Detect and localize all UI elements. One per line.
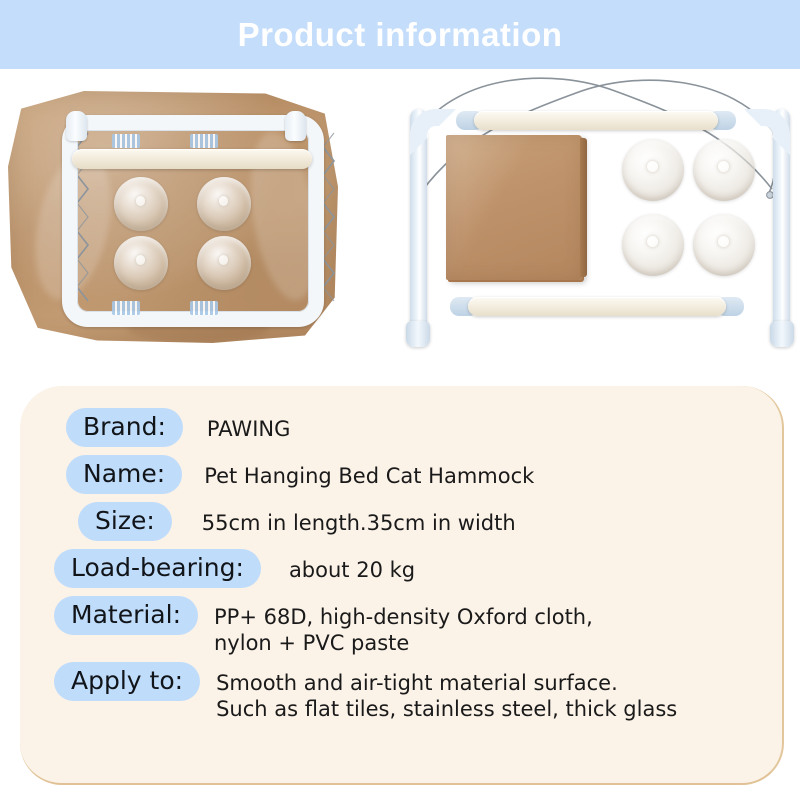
spec-value-size: 55cm in length.35cm in width	[202, 502, 516, 536]
product-info-card: Brand: PAWING Name: Pet Hanging Bed Cat …	[20, 386, 784, 785]
suction-cup	[197, 236, 251, 290]
spec-label-col: Material:	[46, 596, 198, 635]
product-photo-flat-packed	[0, 69, 400, 369]
grid-bracket	[190, 301, 218, 315]
suction-cup	[693, 214, 755, 276]
spec-list: Brand: PAWING Name: Pet Hanging Bed Cat …	[46, 408, 756, 727]
fabric-folded-edge	[580, 138, 587, 277]
suction-cup	[114, 236, 168, 290]
page-header-banner: Product information	[0, 0, 800, 69]
spec-label-col: Size:	[46, 502, 172, 541]
grid-bracket	[112, 134, 140, 148]
frame-leg-cap	[66, 111, 87, 141]
suction-cup	[197, 177, 251, 231]
product-photo-strip	[0, 69, 800, 369]
spec-row-size: Size: 55cm in length.35cm in width	[46, 502, 756, 541]
frame-foot-left	[406, 321, 430, 347]
spec-value-material: PP+ 68D, high-density Oxford cloth, nylo…	[214, 596, 593, 657]
roller-bar-top	[72, 149, 312, 169]
spec-label-apply-to: Apply to:	[54, 662, 200, 701]
spec-label-material: Material:	[54, 596, 198, 635]
page-title: Product information	[238, 18, 563, 51]
spec-row-apply-to: Apply to: Smooth and air-tight material …	[46, 662, 756, 723]
spec-row-brand: Brand: PAWING	[46, 408, 756, 447]
spec-value-brand: PAWING	[207, 408, 290, 442]
spec-label-col: Apply to:	[46, 662, 200, 701]
suction-cup	[114, 177, 168, 231]
product-photo-assembled-frame	[400, 69, 800, 369]
suction-cup	[693, 139, 755, 201]
roller-bar-top	[474, 111, 718, 130]
spec-label-size: Size:	[78, 502, 172, 541]
roller-bar-bottom	[468, 297, 726, 316]
frame-leg-cap	[285, 111, 306, 141]
spec-label-col: Brand:	[46, 408, 183, 447]
suction-cup	[622, 214, 684, 276]
spec-row-material: Material: PP+ 68D, high-density Oxford c…	[46, 596, 756, 657]
spec-label-load-bearing: Load-bearing:	[54, 549, 261, 588]
spec-value-load-bearing: about 20 kg	[289, 549, 415, 583]
spec-value-name: Pet Hanging Bed Cat Hammock	[204, 455, 534, 489]
grid-bracket	[112, 301, 140, 315]
frame-foot-right	[770, 321, 794, 347]
spec-value-apply-to: Smooth and air-tight material surface. S…	[216, 662, 677, 723]
suction-cup	[622, 139, 684, 201]
folded-oxford-fabric	[446, 135, 582, 280]
spec-label-name: Name:	[66, 455, 182, 494]
spec-label-col: Load-bearing:	[46, 549, 261, 588]
spec-label-brand: Brand:	[66, 408, 183, 447]
spec-row-load-bearing: Load-bearing: about 20 kg	[46, 549, 756, 588]
spec-label-col: Name:	[46, 455, 182, 494]
grid-bracket	[190, 134, 218, 148]
spec-row-name: Name: Pet Hanging Bed Cat Hammock	[46, 455, 756, 494]
